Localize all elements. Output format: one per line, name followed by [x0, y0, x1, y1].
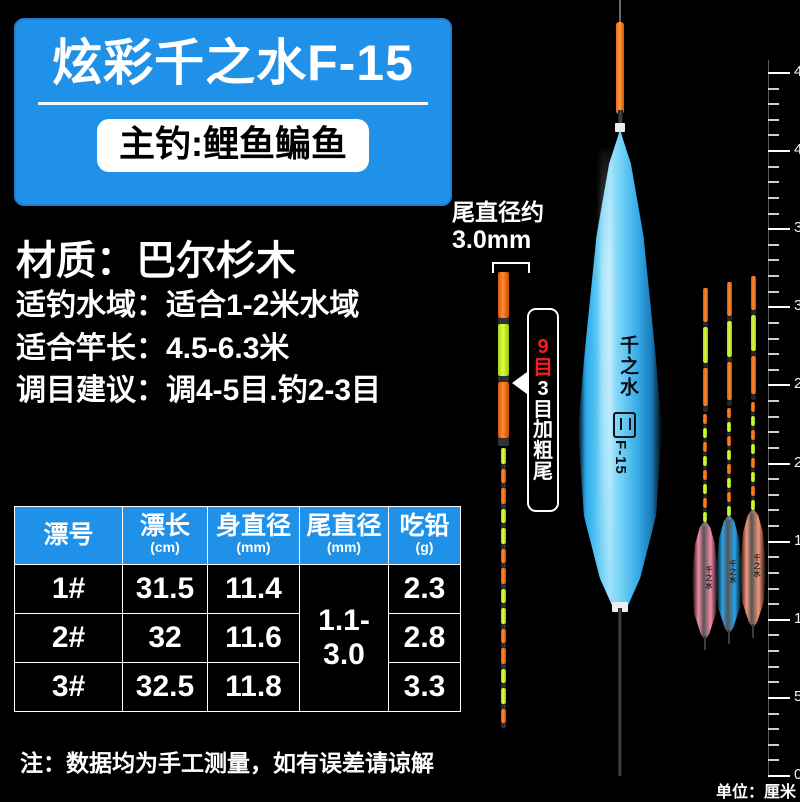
ruler-minor-tick [768, 666, 779, 668]
ruler-minor-tick [768, 353, 779, 355]
ruler-minor-tick [768, 119, 779, 121]
ruler-unit-label: 单位：厘米 [716, 778, 796, 802]
ruler-minor-tick [768, 88, 779, 90]
th-length: 漂长 (cm) [123, 507, 208, 565]
float-seal-icon [613, 412, 636, 438]
ruler-label: 35 [794, 219, 800, 236]
th-text: 尾直径 [300, 514, 388, 539]
th-unit: (g) [389, 540, 460, 555]
badge-char: 目 [533, 358, 553, 379]
ruler-label: 25 [794, 375, 800, 392]
tail-segment [501, 509, 506, 523]
pointer-arrow-icon [512, 372, 527, 394]
float-lower-stem [618, 608, 622, 776]
main-float-illustration: 千之水 F-15 [560, 0, 680, 800]
variant-tail-segment [703, 470, 707, 480]
th-text: 漂号 [15, 523, 122, 548]
ruler-minor-tick [768, 103, 779, 105]
cell-length: 31.5 [123, 565, 208, 614]
ruler-minor-tick [768, 744, 779, 746]
ruler-minor-tick [768, 197, 779, 199]
cell-tail-dia-merged: 1.1-3.0 [300, 565, 389, 712]
ruler-minor-tick [768, 759, 779, 761]
tail-segment [501, 568, 506, 584]
ruler-minor-tick [768, 588, 779, 590]
tail-segment [498, 272, 509, 318]
ruler-major-tick [768, 775, 790, 777]
ruler-label: 40 [794, 141, 800, 158]
ruler-minor-tick [768, 650, 779, 652]
variant-tail-segment [703, 368, 708, 406]
variant-tail-segment [727, 282, 732, 316]
ruler-minor-tick [768, 431, 779, 433]
badge-char: 加 [533, 420, 553, 441]
eye-count-badge: 9目3目加粗尾 [527, 308, 559, 512]
ruler-minor-tick [768, 259, 779, 261]
cell-float-no: 2# [15, 614, 123, 663]
cell-lead: 2.3 [389, 565, 461, 614]
float-brand-text: 千之水 [610, 335, 638, 398]
variant-tail-segment [727, 450, 731, 460]
variant-brand-text: 千之水 [699, 566, 713, 590]
spec-water-depth: 适钓水域：适合1-2米水域 [16, 285, 486, 328]
table-row: 3# 32.5 11.8 3.3 [15, 663, 461, 712]
tail-segment [501, 709, 506, 723]
tail-segment [501, 589, 506, 603]
ruler-minor-tick [768, 525, 779, 527]
cell-body-dia: 11.4 [208, 565, 300, 614]
ruler-minor-tick [768, 166, 779, 168]
ruler-minor-tick [768, 275, 779, 277]
variant-tail-segment [703, 484, 707, 494]
tail-segment [501, 448, 506, 464]
tail-segment [498, 324, 509, 376]
variant-tail-segment [727, 422, 731, 432]
variant-tail-segment [703, 498, 707, 508]
ruler-major-tick [768, 384, 790, 386]
th-text: 吃铅 [389, 514, 460, 539]
spec-list: 材质：巴尔杉木 适钓水域：适合1-2米水域 适合竿长：4.5-6.3米 调目建议… [16, 238, 486, 413]
variant-tail-segment [727, 478, 731, 488]
variant-tail-segment [727, 321, 732, 357]
tail-gap [501, 723, 506, 728]
th-lead: 吃铅 (g) [389, 507, 461, 565]
table-row: 2# 32 11.6 2.8 [15, 614, 461, 663]
table-row: 1# 31.5 11.4 1.1-3.0 2.3 [15, 565, 461, 614]
variant-tail-segment [727, 436, 731, 446]
ruler-minor-tick [768, 713, 779, 715]
variant-tail-segment [703, 456, 707, 466]
ruler-label: 45 [794, 63, 800, 80]
ruler-minor-tick [768, 369, 779, 371]
cell-float-no: 1# [15, 565, 123, 614]
title-card: 炫彩千之水F-15 主钓:鲤鱼鳊鱼 [14, 18, 452, 206]
table-header-row: 漂号 漂长 (cm) 身直径 (mm) 尾直径 (mm) 吃铅 (g) [15, 507, 461, 565]
ruler-minor-tick [768, 603, 779, 605]
ruler-major-tick [768, 150, 790, 152]
ruler-minor-tick [768, 322, 779, 324]
cell-lead: 3.3 [389, 663, 461, 712]
tail-segment [498, 438, 509, 446]
badge-char: 3 [537, 379, 548, 400]
ruler-major-tick [768, 541, 790, 543]
tail-callout-line2: 3.0mm [452, 226, 544, 254]
tail-segment [501, 648, 506, 664]
ruler-minor-tick [768, 447, 779, 449]
ruler-minor-tick [768, 134, 779, 136]
variant-stem [728, 630, 730, 644]
ruler-major-tick [768, 697, 790, 699]
tail-callout-line1: 尾直径约 [452, 200, 544, 226]
tail-segment [498, 382, 509, 438]
spec-material: 材质：巴尔杉木 [16, 238, 486, 285]
th-tail-dia: 尾直径 (mm) [300, 507, 389, 565]
badge-char: 9 [537, 337, 548, 358]
th-unit: (cm) [123, 540, 207, 555]
variant-tail-segment [703, 414, 707, 424]
float-tail-orange-tip [616, 22, 624, 114]
title-divider [38, 102, 428, 105]
product-title: 炫彩千之水F-15 [52, 38, 414, 88]
variant-tail-segment [703, 327, 708, 363]
variant-stem [704, 636, 706, 650]
ruler-label: 5 [794, 688, 800, 705]
tail-segment [501, 469, 506, 483]
tail-detail-strip [498, 272, 509, 728]
tail-segment [501, 549, 506, 563]
ruler-minor-tick [768, 494, 779, 496]
ruler-minor-tick [768, 181, 779, 183]
variant-tail-segment [703, 288, 708, 322]
ruler-label: 10 [794, 610, 800, 627]
variant-tail-segment [703, 442, 707, 452]
ruler-major-tick [768, 72, 790, 74]
ruler-label: 20 [794, 454, 800, 471]
ruler-minor-tick [768, 400, 779, 402]
variant-tail-segment [703, 406, 708, 412]
th-unit: (mm) [300, 540, 388, 555]
tail-segment [501, 629, 506, 643]
badge-char: 尾 [533, 462, 553, 483]
variant-tail-segment [727, 408, 731, 418]
ruler-minor-tick [768, 572, 779, 574]
tail-segment [501, 488, 506, 504]
cell-length: 32 [123, 614, 208, 663]
th-unit: (mm) [208, 540, 299, 555]
ruler-major-tick [768, 619, 790, 621]
variant-tail-segment [727, 362, 732, 400]
ruler-major-tick [768, 228, 790, 230]
th-body-dia: 身直径 (mm) [208, 507, 300, 565]
target-fish-label: 主钓:鲤鱼鳊鱼 [119, 125, 347, 163]
ruler-minor-tick [768, 681, 779, 683]
spec-tuning: 调目建议：调4-5目.钓2-3目 [16, 370, 486, 413]
ruler-minor-tick [768, 338, 779, 340]
cell-float-no: 3# [15, 663, 123, 712]
variant-tail-segment [703, 428, 707, 438]
measurement-note: 注：数据均为手工测量，如有误差请谅解 [20, 744, 434, 778]
spec-rod-length: 适合竿长：4.5-6.3米 [16, 328, 486, 371]
variant-tail-segment [727, 492, 731, 502]
float-model-code: F-15 [612, 440, 629, 475]
ruler-minor-tick [768, 213, 779, 215]
tail-segment [501, 608, 506, 624]
variant-tail-segment [727, 464, 731, 474]
th-text: 身直径 [208, 514, 299, 539]
ruler-scale: 051015202530354045 [752, 0, 800, 800]
ruler-minor-tick [768, 728, 779, 730]
badge-char: 目 [533, 400, 553, 421]
cell-body-dia: 11.6 [208, 614, 300, 663]
product-infographic: 炫彩千之水F-15 主钓:鲤鱼鳊鱼 材质：巴尔杉木 适钓水域：适合1-2米水域 … [0, 0, 800, 800]
cell-length: 32.5 [123, 663, 208, 712]
ruler-label: 15 [794, 532, 800, 549]
ruler-major-tick [768, 463, 790, 465]
ruler-minor-tick [768, 634, 779, 636]
th-text: 漂长 [123, 514, 207, 539]
cell-lead: 2.8 [389, 614, 461, 663]
title-card-inner: 炫彩千之水F-15 主钓:鲤鱼鳊鱼 [18, 22, 448, 202]
ruler-minor-tick [768, 244, 779, 246]
ruler-major-tick [768, 306, 790, 308]
ruler-minor-tick [768, 416, 779, 418]
th-float-no: 漂号 [15, 507, 123, 565]
ruler-label: 30 [794, 297, 800, 314]
ruler-minor-tick [768, 478, 779, 480]
target-fish-pill: 主钓:鲤鱼鳊鱼 [97, 119, 369, 172]
ruler-minor-tick [768, 556, 779, 558]
tail-segment [501, 669, 506, 683]
tail-segment [501, 528, 506, 544]
variant-tail-segment [727, 400, 732, 406]
tail-diameter-callout: 尾直径约 3.0mm [452, 200, 544, 254]
spec-table: 漂号 漂长 (cm) 身直径 (mm) 尾直径 (mm) 吃铅 (g) [14, 506, 461, 712]
cell-body-dia: 11.8 [208, 663, 300, 712]
ruler-minor-tick [768, 509, 779, 511]
tail-segment [501, 688, 506, 704]
ruler-minor-tick [768, 291, 779, 293]
variant-brand-text: 千之水 [723, 560, 737, 584]
badge-char: 粗 [533, 441, 553, 462]
